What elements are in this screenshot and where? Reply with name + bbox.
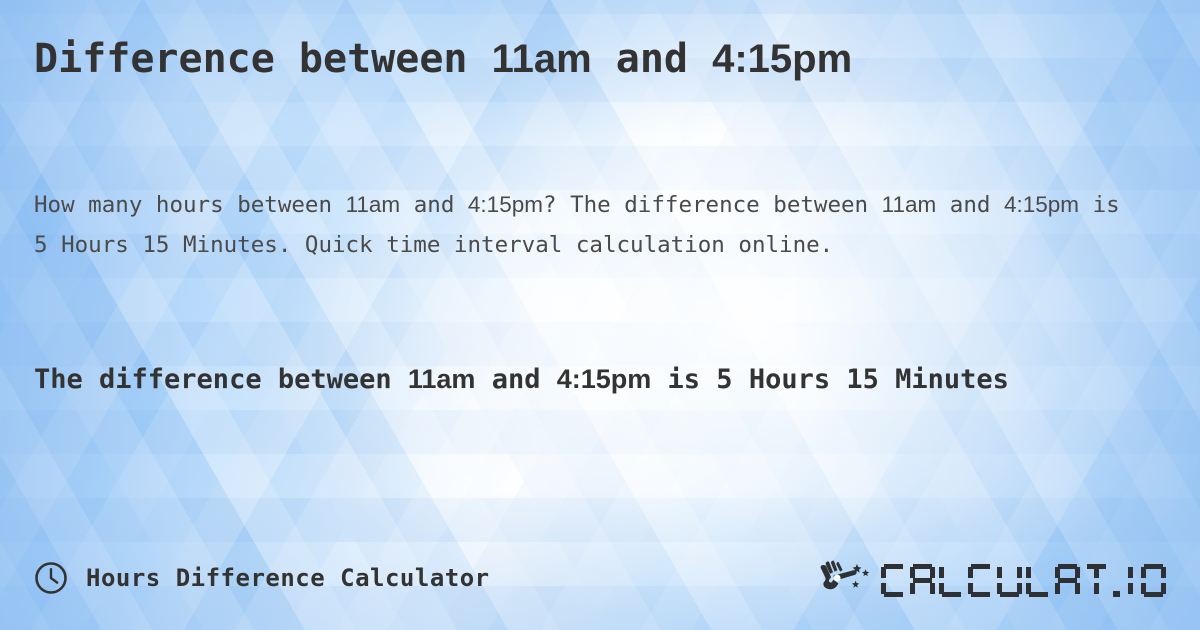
og-image-canvas: Difference between 11am and 4:15pm How m…	[0, 0, 1200, 630]
description-segment-3: ? The difference between	[543, 192, 882, 218]
answer-time-start: 11am	[408, 364, 476, 394]
page-title-prefix: Difference between	[34, 36, 492, 82]
logo-letter-c-1	[881, 564, 906, 597]
logo-letter-dot	[1113, 591, 1120, 597]
brand-name-label: Hours Difference Calculator	[86, 564, 490, 592]
answer-time-end: 4:15pm	[557, 364, 652, 394]
logo-letter-c-2	[968, 564, 993, 597]
description-time-2: 4:15pm	[468, 192, 543, 217]
logo-letter-a-2	[1055, 564, 1080, 597]
logo-letter-l-2	[1026, 564, 1051, 597]
logo-letter-u-1	[997, 564, 1022, 597]
magic-wand-hand-icon	[817, 558, 873, 598]
description-segment-1: How many hours between	[34, 192, 346, 218]
content-area: Difference between 11am and 4:15pm How m…	[0, 0, 1200, 630]
description-time-1: 11am	[346, 192, 401, 217]
page-title-conjunction: and	[592, 36, 712, 82]
answer-segment-3: is 5 Hours 15 Minutes	[651, 364, 1009, 395]
logo-letter-o	[1141, 564, 1166, 597]
page-title: Difference between 11am and 4:15pm	[34, 34, 1166, 84]
description-time-3: 11am	[882, 192, 937, 217]
clock-icon	[34, 561, 68, 595]
page-title-time-start: 11am	[492, 37, 592, 81]
logo-letter-i	[1124, 564, 1137, 597]
logo-letter-t	[1084, 564, 1109, 597]
logo-wordmark	[881, 559, 1166, 597]
description-time-4: 4:15pm	[1004, 192, 1079, 217]
answer-segment-2: and	[475, 364, 556, 395]
answer-heading: The difference between 11am and 4:15pm i…	[34, 355, 1094, 404]
logo-letter-l-1	[939, 564, 964, 597]
description-paragraph: How many hours between 11am and 4:15pm? …	[34, 185, 1139, 265]
footer: Hours Difference Calculator	[0, 550, 1200, 606]
description-segment-4: and	[936, 192, 1004, 218]
description-segment-2: and	[400, 192, 468, 218]
page-title-time-end: 4:15pm	[712, 37, 852, 81]
logo-letter-a-1	[910, 564, 935, 597]
site-logo[interactable]	[817, 558, 1166, 598]
calculator-brand: Hours Difference Calculator	[34, 561, 490, 595]
answer-segment-1: The difference between	[34, 364, 408, 395]
